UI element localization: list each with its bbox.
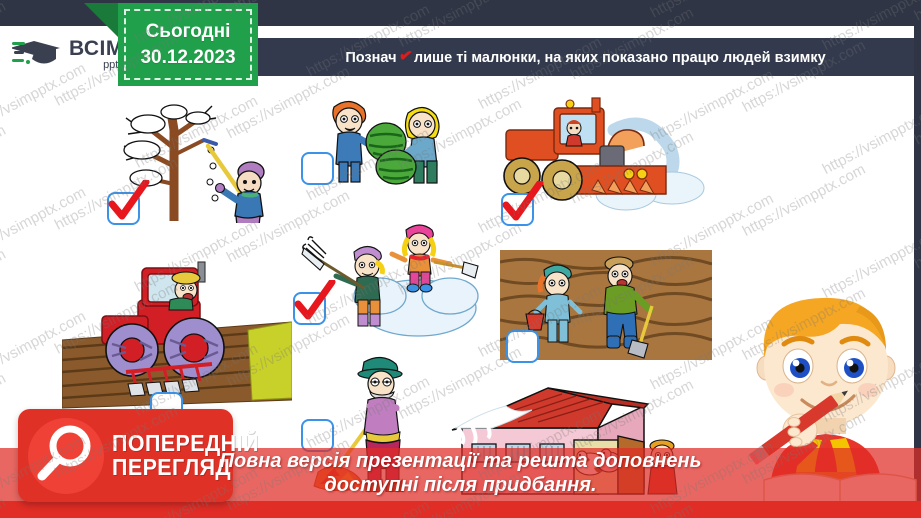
task-instruction-text: Познач✔лише ті малюнки, на яких показано…	[345, 47, 825, 67]
check-tick-icon	[498, 181, 544, 227]
checkbox-task-1[interactable]	[107, 192, 140, 225]
slide-root: ВСІМ pptx Сьогодні 30.12.2023 Познач✔лиш…	[0, 0, 921, 518]
date-tag-fold	[84, 3, 118, 37]
checkbox-task-4[interactable]	[293, 292, 326, 325]
instruction-check-icon: ✔	[397, 45, 413, 67]
left-white-edge	[0, 26, 7, 428]
task-instruction-bar: Познач✔лише ті малюнки, на яких показано…	[256, 38, 915, 76]
date-tag: Сьогодні 30.12.2023	[118, 3, 258, 86]
checkbox-task-5[interactable]	[506, 330, 539, 363]
date-tag-value: 30.12.2023	[140, 47, 235, 69]
footer-line-2: доступні після придбання.	[0, 474, 921, 498]
check-tick-icon	[104, 180, 150, 226]
illustration-tractor	[62, 248, 292, 413]
footer-message: Повна версія презентації та решта доповн…	[0, 450, 921, 497]
graduation-cap-icon	[12, 37, 64, 71]
checkbox-task-3[interactable]	[501, 193, 534, 226]
instruction-text-after: лише ті малюнки, на яких показано працю …	[414, 50, 826, 66]
footer-solid-band	[0, 501, 921, 518]
logo-title: ВСІМ	[69, 38, 124, 59]
checkbox-task-2[interactable]	[301, 152, 334, 185]
right-dark-edge	[914, 0, 921, 518]
date-tag-label: Сьогодні	[146, 21, 231, 43]
footer-line-1: Повна версія презентації та решта доповн…	[0, 450, 921, 474]
check-tick-icon	[290, 280, 336, 326]
instruction-text-before: Познач	[345, 50, 396, 66]
